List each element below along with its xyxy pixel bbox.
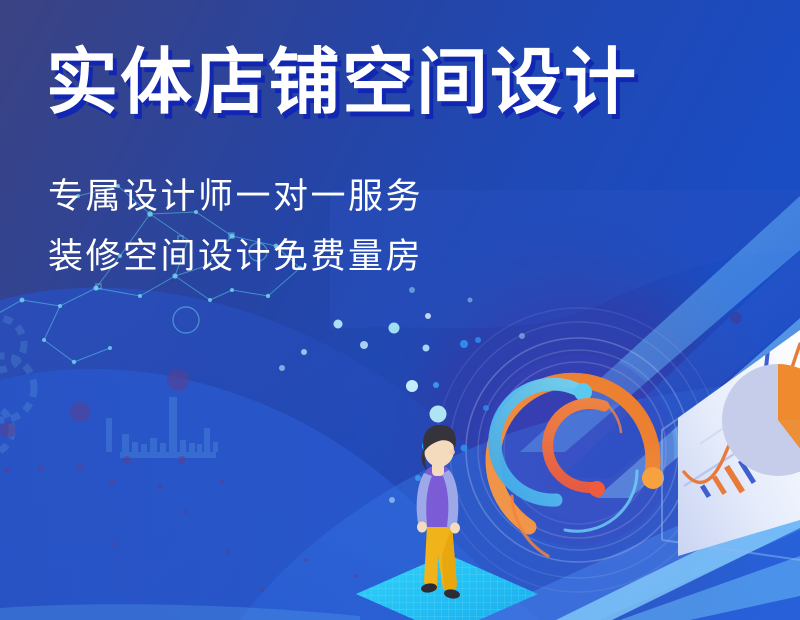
bottom-light-band (0, 0, 800, 620)
promo-banner: 实体店铺空间设计 专属设计师一对一服务 装修空间设计免费量房 (0, 0, 800, 620)
